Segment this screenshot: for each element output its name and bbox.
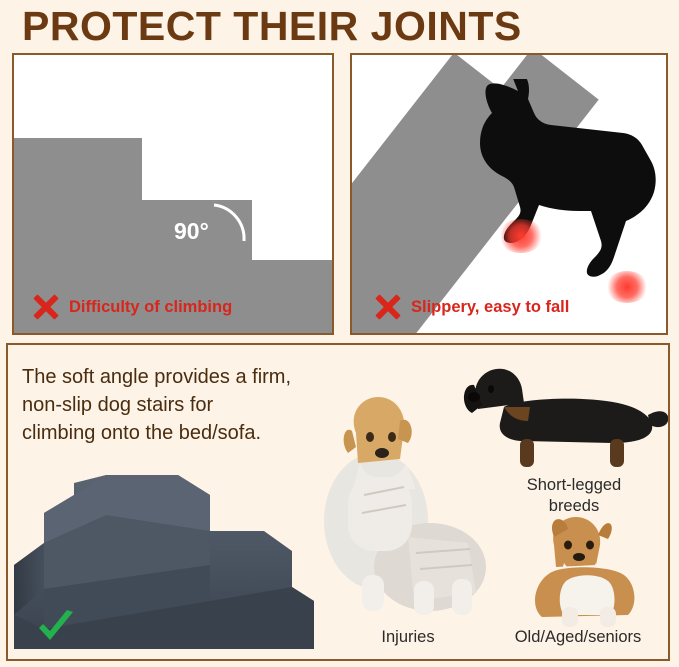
step-upper bbox=[14, 138, 142, 203]
ramp-illustration bbox=[352, 55, 666, 333]
panel-difficulty-of-climbing: 90° Difficulty of climbing bbox=[12, 53, 334, 335]
photo-corgi bbox=[506, 511, 666, 629]
caption-short-legged-line1: Short-legged bbox=[484, 475, 664, 496]
caption-row-slippery: Slippery, easy to fall bbox=[374, 293, 569, 321]
solution-line-2: non-slip dog stairs for bbox=[22, 391, 352, 419]
page-title: PROTECT THEIR JOINTS bbox=[22, 3, 662, 49]
caption-old-aged-seniors: Old/Aged/seniors bbox=[480, 627, 670, 648]
solution-line-1: The soft angle provides a firm, bbox=[22, 363, 352, 391]
caption-short-legged-breeds: Short-legged breeds bbox=[484, 475, 664, 517]
stairs-illustration: 90° bbox=[14, 55, 332, 333]
green-check-icon bbox=[36, 609, 76, 645]
caption-difficulty-of-climbing: Difficulty of climbing bbox=[69, 298, 232, 317]
x-mark-icon bbox=[374, 293, 402, 321]
panel-solution: The soft angle provides a firm, non-slip… bbox=[6, 343, 670, 661]
paw-slip-glow-rear bbox=[605, 271, 649, 303]
caption-slippery-easy-to-fall: Slippery, easy to fall bbox=[411, 298, 569, 317]
infographic-page: PROTECT THEIR JOINTS 90° Difficulty of c… bbox=[0, 0, 679, 667]
caption-short-legged-line2: breeds bbox=[484, 496, 664, 517]
caption-injuries: Injuries bbox=[338, 627, 478, 648]
angle-arc-icon bbox=[210, 203, 250, 245]
paw-slip-glow-front bbox=[498, 219, 544, 253]
angle-label: 90° bbox=[174, 218, 209, 245]
x-mark-icon bbox=[32, 293, 60, 321]
panel-slippery-easy-to-fall: Slippery, easy to fall bbox=[350, 53, 668, 335]
solution-description: The soft angle provides a firm, non-slip… bbox=[22, 363, 352, 447]
solution-line-3: climbing onto the bed/sofa. bbox=[22, 419, 352, 447]
caption-row-climbing: Difficulty of climbing bbox=[32, 293, 232, 321]
photo-dachshund bbox=[458, 355, 670, 477]
